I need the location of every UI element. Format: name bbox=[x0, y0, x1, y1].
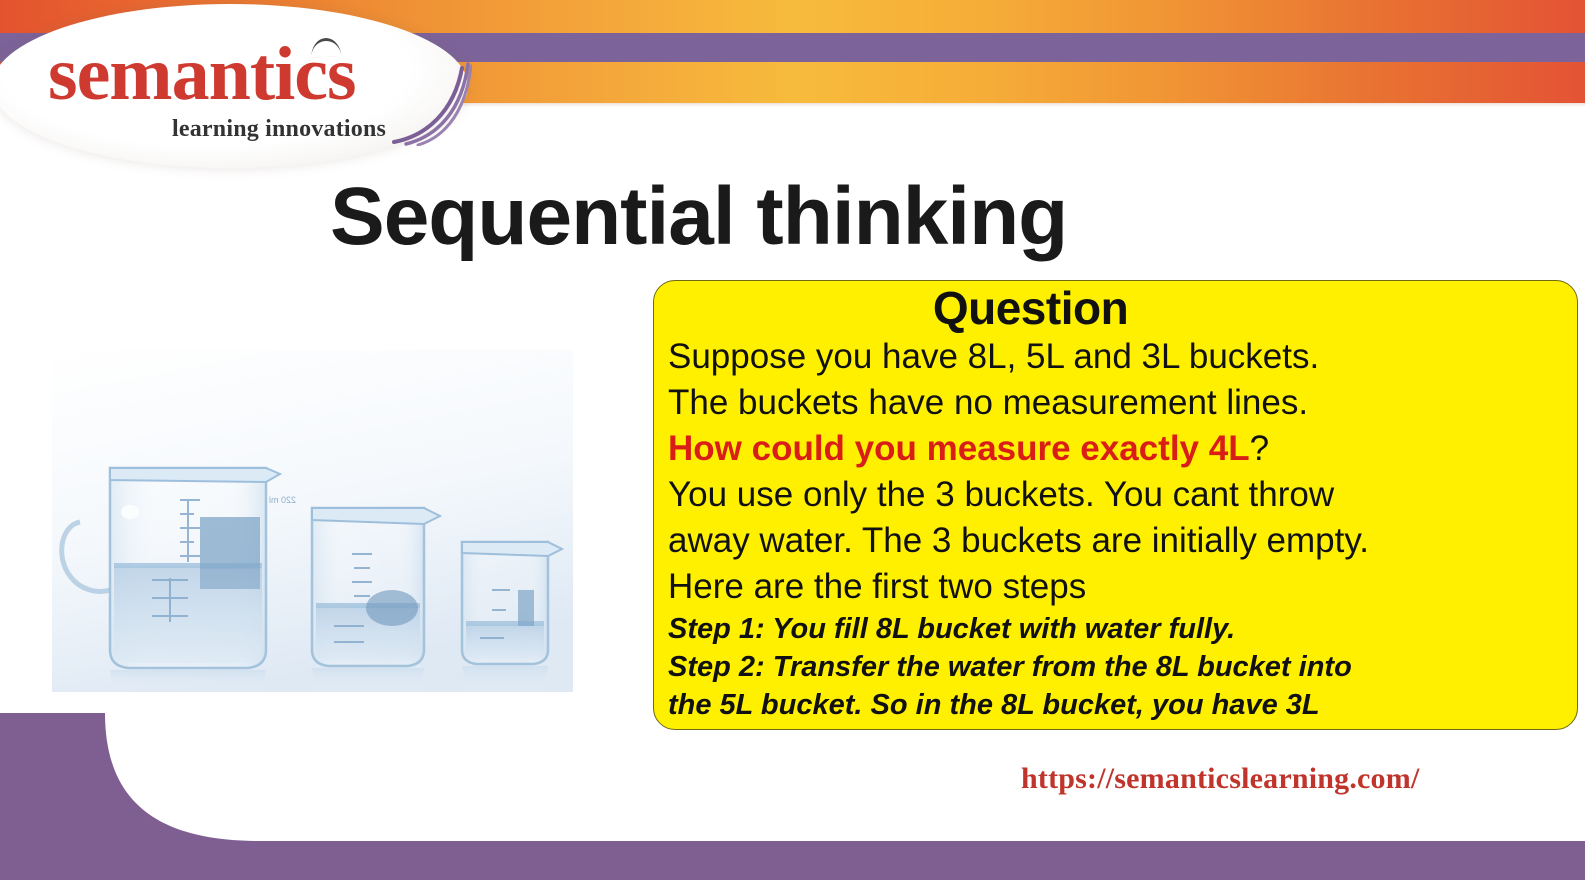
beaker-small bbox=[462, 542, 562, 692]
logo-swoosh-icon bbox=[392, 50, 472, 146]
question-line-5: away water. The 3 buckets are initially … bbox=[668, 518, 1563, 564]
logo-tagline: learning innovations bbox=[172, 116, 386, 143]
logo-wordmark: semantics bbox=[48, 36, 356, 112]
question-callout-box: Question Suppose you have 8L, 5L and 3L … bbox=[653, 280, 1578, 730]
slide-root: semantics learning innovations Sequentia… bbox=[0, 0, 1585, 891]
question-line-6: Here are the first two steps bbox=[668, 564, 1563, 610]
svg-text:220 ml: 220 ml bbox=[269, 495, 296, 505]
step-line-1: Step 1: You fill 8L bucket with water fu… bbox=[668, 610, 1563, 648]
question-line-3-highlight: How could you measure exactly 4L? bbox=[668, 426, 1563, 472]
beaker-photo: 220 ml bbox=[52, 350, 573, 692]
question-line-1: Suppose you have 8L, 5L and 3L buckets. bbox=[668, 334, 1563, 380]
question-highlight-text: How could you measure exactly 4L bbox=[668, 429, 1250, 468]
beakers-illustration: 220 ml bbox=[52, 350, 573, 692]
question-heading: Question bbox=[668, 285, 1563, 332]
question-mark: ? bbox=[1250, 429, 1269, 468]
footer-purple-decoration bbox=[0, 708, 1585, 891]
step-line-2: Step 2: Transfer the water from the 8L b… bbox=[668, 648, 1563, 686]
page-title: Sequential thinking bbox=[330, 176, 1260, 258]
question-line-2: The buckets have no measurement lines. bbox=[668, 380, 1563, 426]
question-line-4: You use only the 3 buckets. You cant thr… bbox=[668, 472, 1563, 518]
